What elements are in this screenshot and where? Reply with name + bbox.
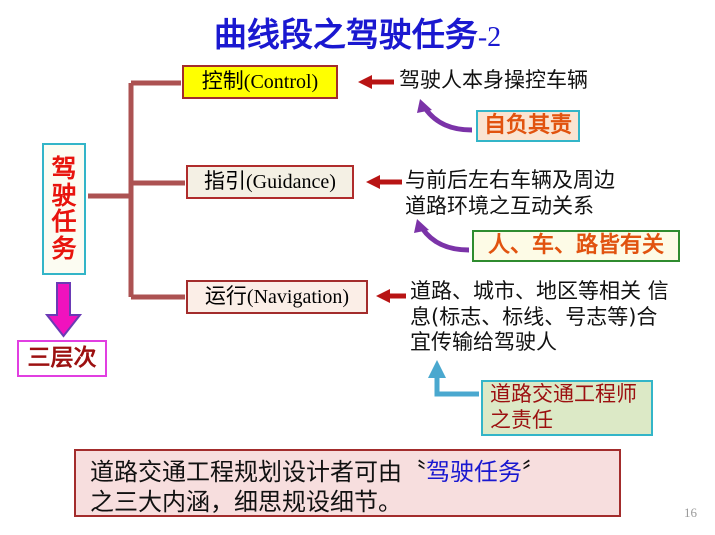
node-guidance-en: (Guidance)	[246, 171, 336, 193]
node-navigation-en: (Navigation)	[247, 286, 349, 308]
page-title-main: 曲线段之驾驶任务	[214, 15, 478, 54]
summary-line1-a: 道路交通工程规划设计者可由〝	[90, 458, 426, 486]
node-navigation[interactable]: 运行(Navigation)	[186, 280, 368, 314]
slide-canvas: 曲线段之驾驶任务-2	[0, 0, 715, 535]
page-title: 曲线段之驾驶任务-2	[0, 8, 715, 56]
three-levels-box[interactable]: 三层次	[17, 340, 107, 377]
node-guidance-cn: 指引	[204, 170, 246, 194]
description-navigation: 道路、城市、地区等相关 信 息(标志、标线、号志等)合 宜传输给驾驶人	[410, 279, 669, 356]
summary-box[interactable]: 道路交通工程规划设计者可由〝驾驶任务〞 之三大内涵，细思规设细节。	[74, 449, 621, 517]
description-control: 驾驶人本身操控车辆	[399, 68, 588, 94]
node-navigation-cn: 运行	[205, 285, 247, 309]
root-char-3: 任	[51, 209, 76, 236]
root-char-2: 驶	[51, 183, 76, 210]
page-title-suffix: -2	[478, 22, 501, 53]
callout-people-vehicle-road[interactable]: 人、车、路皆有关	[472, 230, 680, 262]
arrow-red-control	[358, 75, 394, 89]
root-node-driving-task[interactable]: 驾 驶 任 务	[42, 143, 86, 275]
arrow-purple-guidance	[414, 219, 469, 250]
root-char-1: 驾	[51, 156, 76, 183]
arrow-magenta-down	[47, 283, 80, 336]
description-guidance: 与前后左右车辆及周边 道路环境之互动关系	[405, 168, 615, 219]
callout-engineer-line-1: 道路交通工程师	[490, 382, 637, 408]
summary-line1-b: 〞	[522, 458, 546, 486]
tree-bracket	[88, 83, 185, 297]
arrow-red-guidance	[366, 175, 402, 189]
arrow-cyan-navigation	[428, 360, 479, 394]
callout-self-responsibility[interactable]: 自负其责	[476, 110, 580, 142]
callout-engineer-responsibility[interactable]: 道路交通工程师 之责任	[481, 380, 653, 436]
page-number: 16	[684, 505, 697, 521]
summary-line2: 之三大内涵，细思规设细节。	[90, 488, 402, 516]
summary-line1-highlight: 驾驶任务	[426, 458, 522, 486]
node-control-cn: 控制	[202, 70, 244, 94]
node-control-en: (Control)	[244, 71, 318, 93]
arrow-red-navigation	[376, 289, 406, 303]
root-char-4: 务	[51, 236, 76, 263]
arrow-purple-control	[417, 99, 472, 130]
node-guidance[interactable]: 指引(Guidance)	[186, 165, 354, 199]
callout-engineer-line-2: 之责任	[490, 408, 553, 434]
node-control[interactable]: 控制(Control)	[182, 65, 338, 99]
